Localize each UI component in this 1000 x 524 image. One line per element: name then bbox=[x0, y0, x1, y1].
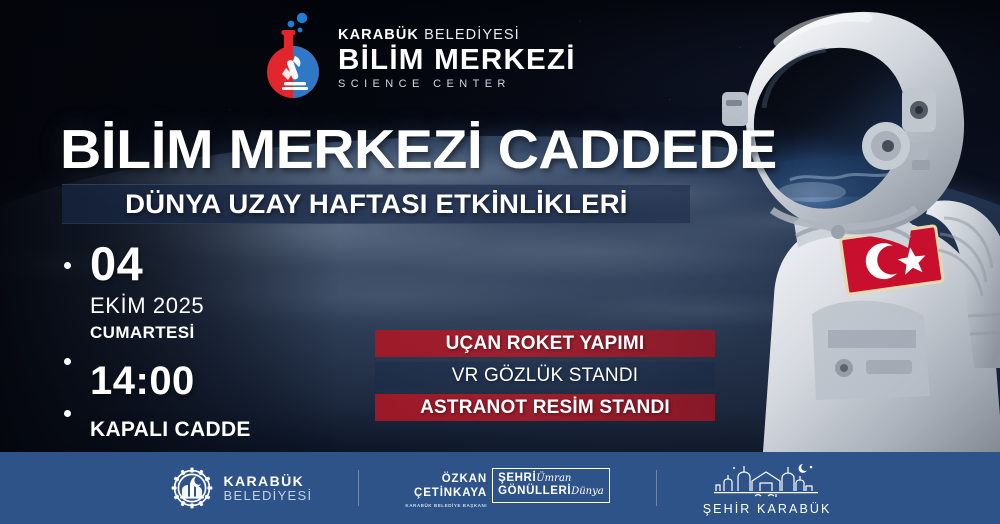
city-label: ŞEHİR KARABÜK bbox=[703, 502, 832, 516]
footer-divider-1 bbox=[358, 470, 359, 506]
mayor-slogan-line-2: GÖNÜLLERİDünya bbox=[498, 485, 604, 498]
footer-bar: KARABÜK BELEDİYESİ ÖZKAN ÇETİNKAYA KARAB… bbox=[0, 452, 1000, 524]
flask-microscope-icon bbox=[262, 10, 328, 102]
page-subtitle: DÜNYA UZAY HAFTASI ETKİNLİKLERİ bbox=[125, 189, 628, 220]
mayor-logo: ÖZKAN ÇETİNKAYA KARABÜK BELEDİYE BAŞKANI… bbox=[405, 468, 609, 507]
activity-item-2: VR GÖZLÜK STANDI bbox=[375, 362, 715, 389]
bilim-merkezi-logo: KARABÜK BELEDİYESİ BİLİM MERKEZİ SCIENCE… bbox=[262, 10, 571, 102]
poster-canvas: KARABÜK BELEDİYESİ BİLİM MERKEZİ SCIENCE… bbox=[0, 0, 1000, 524]
bullet-icon-place bbox=[64, 410, 71, 417]
city-skyline-icon bbox=[708, 461, 826, 501]
event-weekday: CUMARTESİ bbox=[90, 324, 360, 341]
event-time: 14:00 bbox=[90, 361, 360, 401]
bullet-icon-time bbox=[64, 358, 71, 365]
event-details: 04 EKİM 2025 CUMARTESİ 14:00 KAPALI CADD… bbox=[60, 240, 360, 440]
event-place: KAPALI CADDE bbox=[90, 419, 360, 440]
activity-item-3: ASTRANOT RESİM STANDI bbox=[375, 394, 715, 421]
slogan-sehri: ŞEHRİ bbox=[498, 472, 536, 484]
mayor-slogan-box: ŞEHRİÜmran GÖNÜLLERİDünya bbox=[492, 468, 610, 503]
footer-belediyesi: BELEDİYESİ bbox=[224, 489, 313, 503]
brand-belediyesi: BELEDİYESİ bbox=[424, 27, 520, 43]
mayor-title: KARABÜK BELEDİYE BAŞKANI bbox=[405, 503, 487, 508]
mayor-slogan-line-1: ŞEHRİÜmran bbox=[498, 472, 604, 485]
footer-divider-2 bbox=[656, 470, 657, 506]
event-year: 2025 bbox=[153, 293, 204, 318]
brand-bilim-merkezi: BİLİM MERKEZİ bbox=[338, 45, 576, 75]
slogan-gonulleri: GÖNÜLLERİ bbox=[498, 485, 571, 497]
astronaut-figure bbox=[716, 0, 1000, 466]
activity-list: UÇAN ROKET YAPIMI VR GÖZLÜK STANDI ASTRA… bbox=[375, 330, 715, 421]
brand-line-1: KARABÜK BELEDİYESİ bbox=[338, 28, 571, 43]
brand-karabuk: KARABÜK bbox=[338, 27, 419, 43]
event-month: EKİM bbox=[90, 293, 153, 318]
page-title: BİLİM MERKEZİ CADDEDE bbox=[60, 122, 777, 177]
footer-karabuk: KARABÜK bbox=[224, 474, 313, 489]
mayor-name-line-2: ÇETİNKAYA bbox=[405, 487, 487, 501]
event-month-year: EKİM 2025 bbox=[90, 295, 360, 317]
karabuk-belediyesi-logo: KARABÜK BELEDİYESİ bbox=[169, 465, 313, 511]
event-day: 04 bbox=[90, 240, 360, 287]
bullet-icon-date bbox=[64, 262, 71, 269]
gear-mosque-icon bbox=[169, 465, 215, 511]
mayor-name-line-1: ÖZKAN bbox=[405, 473, 487, 487]
slogan-umran: Ümran bbox=[536, 473, 571, 484]
brand-science-center: SCIENCE CENTER bbox=[338, 78, 571, 90]
slogan-dunya: Dünya bbox=[571, 486, 604, 497]
sehir-karabuk-logo: ŞEHİR KARABÜK bbox=[703, 461, 832, 516]
subtitle-bar: DÜNYA UZAY HAFTASI ETKİNLİKLERİ bbox=[62, 184, 690, 224]
activity-item-1: UÇAN ROKET YAPIMI bbox=[375, 330, 715, 357]
